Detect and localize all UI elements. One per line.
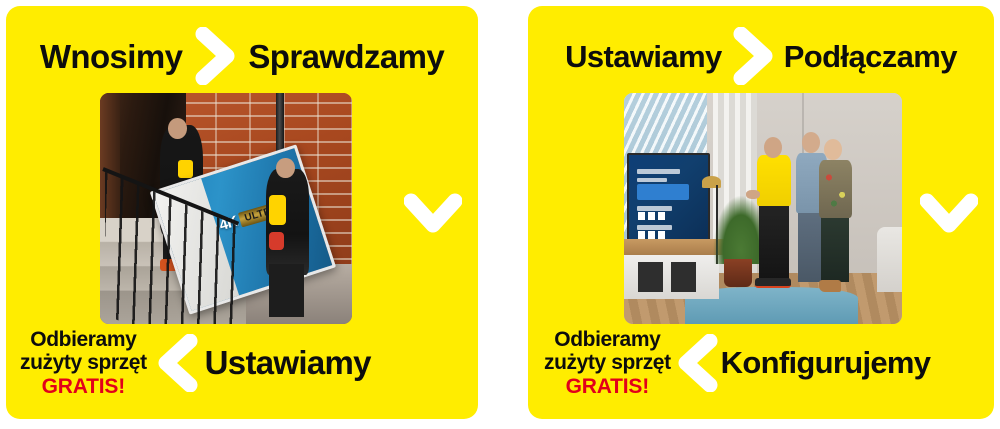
chevron-down-icon xyxy=(920,192,978,234)
panel-2-step-3-label: Konfigurujemy xyxy=(721,345,931,381)
recycle-gratis-label: GRATIS! xyxy=(544,375,671,399)
panel-1-step-1-label: Wnosimy xyxy=(40,40,182,73)
chevron-right-icon xyxy=(732,27,774,85)
panel-1-photo: 4K ULTRA HD xyxy=(100,93,352,324)
technician xyxy=(757,155,790,206)
infographic-stage: Wnosimy Sprawdzamy xyxy=(0,0,1000,429)
chevron-left-icon xyxy=(157,334,199,392)
recycle-line-2: zużyty sprzęt xyxy=(544,351,671,375)
recycle-line-2: zużyty sprzęt xyxy=(20,351,147,375)
service-steps-panel-1: Wnosimy Sprawdzamy xyxy=(6,6,478,419)
recycle-line-1: Odbieramy xyxy=(544,328,671,352)
panel-1-top-row: Wnosimy Sprawdzamy xyxy=(6,20,478,92)
panel-2-photo xyxy=(624,93,902,324)
chevron-down-icon xyxy=(404,192,462,234)
photo-installation-scene xyxy=(624,93,902,324)
panel-1-step-2-label: Sprawdzamy xyxy=(248,40,444,73)
recycle-gratis-label: GRATIS! xyxy=(20,375,147,399)
panel-2-step-2-label: Podłączamy xyxy=(784,41,957,72)
panel-2-top-row: Ustawiamy Podłączamy xyxy=(528,20,994,92)
service-steps-panel-2: Ustawiamy Podłączamy xyxy=(528,6,994,419)
photo-delivery-scene: 4K ULTRA HD xyxy=(100,93,352,324)
chevron-left-icon xyxy=(677,334,719,392)
panel-2-bottom-row: Odbieramy zużyty sprzęt GRATIS! Konfigur… xyxy=(528,315,994,411)
panel-2-recycle-note: Odbieramy zużyty sprzęt GRATIS! xyxy=(528,328,671,399)
customer-woman xyxy=(819,160,852,218)
panel-1-bottom-row: Odbieramy zużyty sprzęt GRATIS! Ustawiam… xyxy=(6,315,478,411)
panel-1-recycle-note: Odbieramy zużyty sprzęt GRATIS! xyxy=(6,328,147,399)
panel-1-step-3-label: Ustawiamy xyxy=(205,344,371,382)
chevron-right-icon xyxy=(194,27,236,85)
recycle-line-1: Odbieramy xyxy=(20,328,147,352)
panel-2-step-1-label: Ustawiamy xyxy=(565,41,722,72)
